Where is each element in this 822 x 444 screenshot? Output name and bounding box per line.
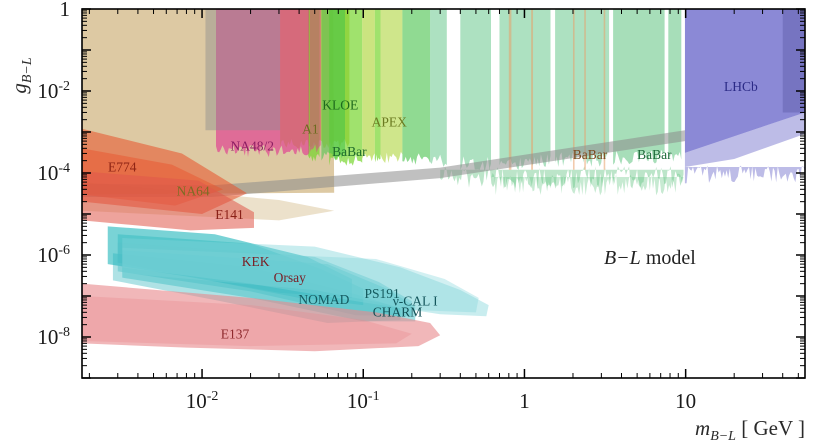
region-BaBar-gap bbox=[509, 9, 512, 170]
region-BaBar-2 bbox=[500, 9, 551, 170]
region-BaBar-2 bbox=[460, 9, 491, 171]
region-label-Orsay: Orsay bbox=[274, 270, 306, 285]
region-APEX bbox=[381, 9, 403, 163]
xtick-label-3: 10 bbox=[675, 389, 696, 413]
model-annotation: B−L model bbox=[604, 247, 696, 269]
region-BaBar-2 bbox=[430, 9, 447, 167]
region-BaBar-gap bbox=[573, 9, 575, 170]
region-BaBar-1 bbox=[402, 9, 430, 165]
region-label-KLOE: KLOE bbox=[322, 98, 358, 113]
region-label-E141: E141 bbox=[215, 207, 244, 222]
region-BaBar-1 bbox=[321, 9, 345, 161]
region-label-A1: A1 bbox=[302, 121, 319, 136]
region-label-NA64: NA64 bbox=[177, 183, 210, 198]
region-label-KEK: KEK bbox=[242, 254, 270, 269]
exclusion-plot-svg: E774NA64E141NA48/2A1KLOEAPEXBaBarBaBarBa… bbox=[0, 0, 822, 444]
xtick-label-2: 1 bbox=[519, 389, 530, 413]
region-label-E137: E137 bbox=[221, 326, 250, 341]
region-label-LHCb: LHCb bbox=[724, 79, 758, 94]
region-label-CHARM: CHARM bbox=[373, 304, 423, 319]
region-label-NA48/2: NA48/2 bbox=[231, 139, 275, 154]
ytick-label-0: 1 bbox=[60, 0, 71, 21]
chart-figure: E774NA64E141NA48/2A1KLOEAPEXBaBarBaBarBa… bbox=[0, 0, 822, 444]
region-label-E774: E774 bbox=[108, 159, 137, 174]
region-BaBar-gap bbox=[531, 9, 533, 170]
region-APEX bbox=[362, 9, 375, 161]
region-label-BaBar-1: BaBar bbox=[332, 144, 367, 159]
region-label-NOMAD: NOMAD bbox=[298, 292, 349, 307]
region-label-BaBar-3: BaBar bbox=[637, 147, 672, 162]
region-label-BaBar-2: BaBar bbox=[573, 147, 608, 162]
region-gray-band bbox=[205, 9, 280, 130]
region-KLOE bbox=[375, 9, 381, 162]
region-label-APEX: APEX bbox=[372, 115, 408, 130]
